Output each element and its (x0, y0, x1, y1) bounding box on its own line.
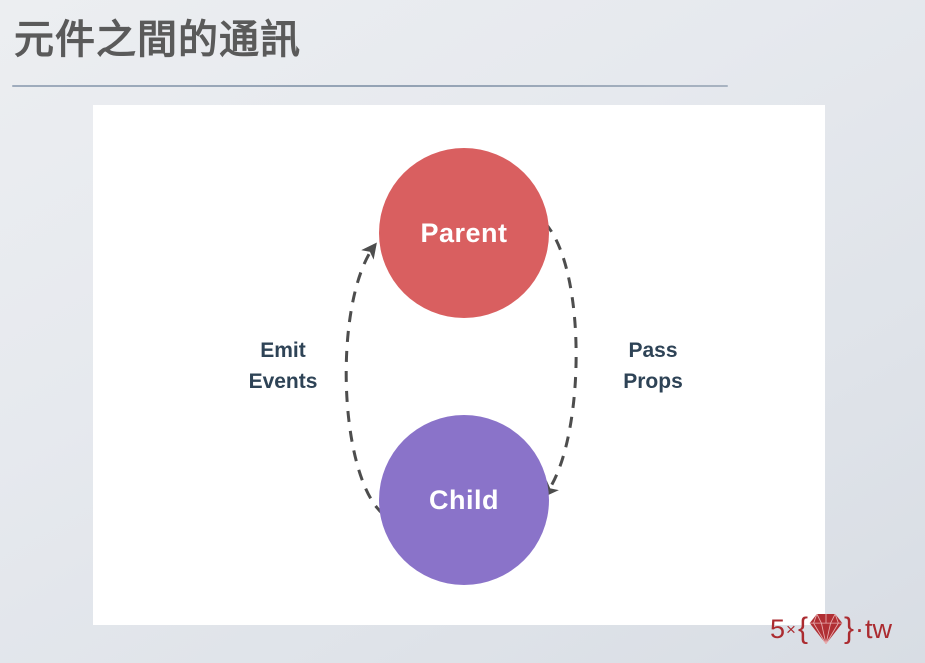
edge-label-emit-line1: Emit (208, 335, 358, 366)
node-parent[interactable]: Parent (379, 148, 549, 318)
edge-label-emit-line2: Events (208, 366, 358, 397)
title-divider (12, 85, 728, 87)
logo-prefix: 5 (770, 616, 785, 643)
site-logo[interactable]: 5 × { } (770, 614, 892, 644)
logo-multiply-sign: × (785, 621, 798, 638)
logo-dot: · (854, 616, 865, 643)
edge-label-pass-line1: Pass (578, 335, 728, 366)
logo-brace-open: { (798, 614, 808, 644)
node-parent-label: Parent (420, 218, 507, 249)
edge-label-emit-events: Emit Events (208, 335, 358, 397)
content-panel: Parent Child Emit Events Pass Props (93, 105, 825, 625)
edge-label-pass-line2: Props (578, 366, 728, 397)
slide: 元件之間的通訊 Paren (0, 0, 925, 663)
arc-pass-props (545, 223, 576, 495)
page-title: 元件之間的通訊 (14, 8, 301, 72)
node-child[interactable]: Child (379, 415, 549, 585)
component-communication-diagram: Parent Child Emit Events Pass Props (93, 105, 825, 625)
node-child-label: Child (429, 485, 499, 516)
logo-suffix: tw (865, 616, 892, 643)
logo-brace-close: } (844, 614, 854, 644)
gem-icon (809, 614, 843, 644)
edge-label-pass-props: Pass Props (578, 335, 728, 397)
